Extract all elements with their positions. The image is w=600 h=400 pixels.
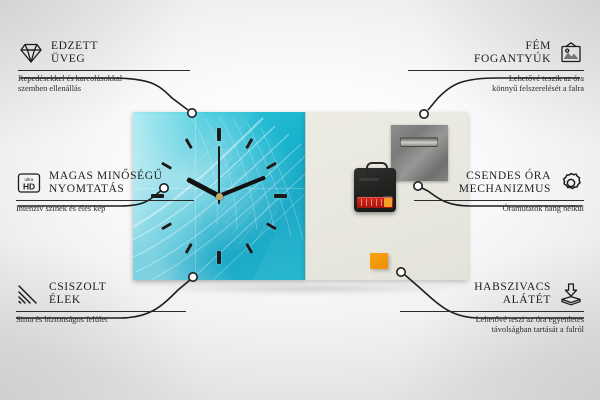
callout-divider [16,200,194,201]
quiet-clock-mechanism [354,168,396,212]
battery-terminal [384,198,392,207]
infographic-canvas: EDZETT ÜVEG Repedésekkel és karcolásokka… [0,0,600,400]
callout-title: HABSZIVACS ALÁTÉT [474,281,551,307]
clock-center-cap [216,193,223,200]
callout-description: Sima és biztonságos felület [16,315,186,325]
picture-hanger-icon [558,41,584,65]
clock-second-hand [217,138,219,196]
callout-foam-pad: HABSZIVACS ALÁTÉT Lehetővé teszi az óra … [400,281,584,335]
callout-title: MAGAS MINŐSÉGŰ NYOMTATÁS [49,170,163,196]
mechanism-detail [359,178,379,181]
callout-description: Repedésekkel és karcolásokkal szemben el… [18,74,190,94]
callout-divider [18,70,190,71]
diamond-icon [18,41,44,65]
callout-divider [414,200,584,201]
callout-divider [408,70,584,71]
callout-high-quality-print: ultra HD MAGAS MINŐSÉGŰ NYOMTATÁS Intenz… [16,170,194,214]
callout-metal-hangers: FÉM FOGANTYÚK Lehetővé teszik az óra kön… [408,40,584,94]
callout-description: Intenzív színek és éles kép [16,204,194,214]
svg-text:HD: HD [23,181,35,191]
foam-pad-sticker [370,253,388,269]
callout-title: CSENDES ÓRA MECHANIZMUS [459,170,551,196]
mechanism-hanging-loop [366,162,388,174]
callout-divider [400,311,584,312]
callout-description: Óramutatók hang nélkül [414,204,584,214]
callout-divider [16,311,186,312]
callout-description: Lehetővé teszi az óra egyenletes távolsá… [400,315,584,335]
foam-pad-icon [558,282,584,306]
polished-edge-icon [16,282,42,306]
battery-compartment [357,197,393,208]
ultra-hd-icon: ultra HD [16,171,42,195]
callout-tempered-glass: EDZETT ÜVEG Repedésekkel és karcolásokka… [18,40,190,94]
callout-description: Lehetővé teszik az óra könnyű felszerelé… [408,74,584,94]
callout-quiet-mechanism: CSENDES ÓRA MECHANIZMUS Óramutatók hang … [414,170,584,214]
callout-title: FÉM FOGANTYÚK [474,40,551,66]
hanger-slot [400,137,438,147]
callout-polished-edges: CSISZOLT ÉLEK Sima és biztonságos felüle… [16,281,186,325]
callout-title: EDZETT ÜVEG [51,40,98,66]
gear-icon [558,171,584,195]
callout-title: CSISZOLT ÉLEK [49,281,106,307]
